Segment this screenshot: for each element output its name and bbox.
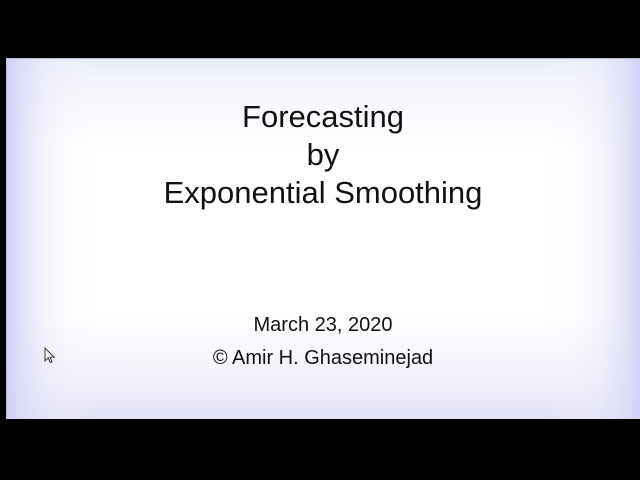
slide-author-copyright: © Amir H. Ghaseminejad	[6, 342, 640, 375]
slide-byline-block: March 23, 2020 © Amir H. Ghaseminejad	[6, 309, 640, 375]
letterbox-bottom-bar	[0, 419, 640, 480]
slide-title-line-2: by	[6, 136, 640, 174]
slide-title-line-3: Exponential Smoothing	[6, 174, 640, 212]
letterbox-top-bar	[0, 0, 640, 58]
screen: Forecasting by Exponential Smoothing Mar…	[0, 0, 640, 480]
slide-title-line-1: Forecasting	[6, 98, 640, 136]
presentation-slide[interactable]: Forecasting by Exponential Smoothing Mar…	[6, 58, 640, 419]
slide-title-block: Forecasting by Exponential Smoothing	[6, 98, 640, 212]
slide-content: Forecasting by Exponential Smoothing Mar…	[6, 58, 640, 419]
slide-date: March 23, 2020	[6, 309, 640, 342]
